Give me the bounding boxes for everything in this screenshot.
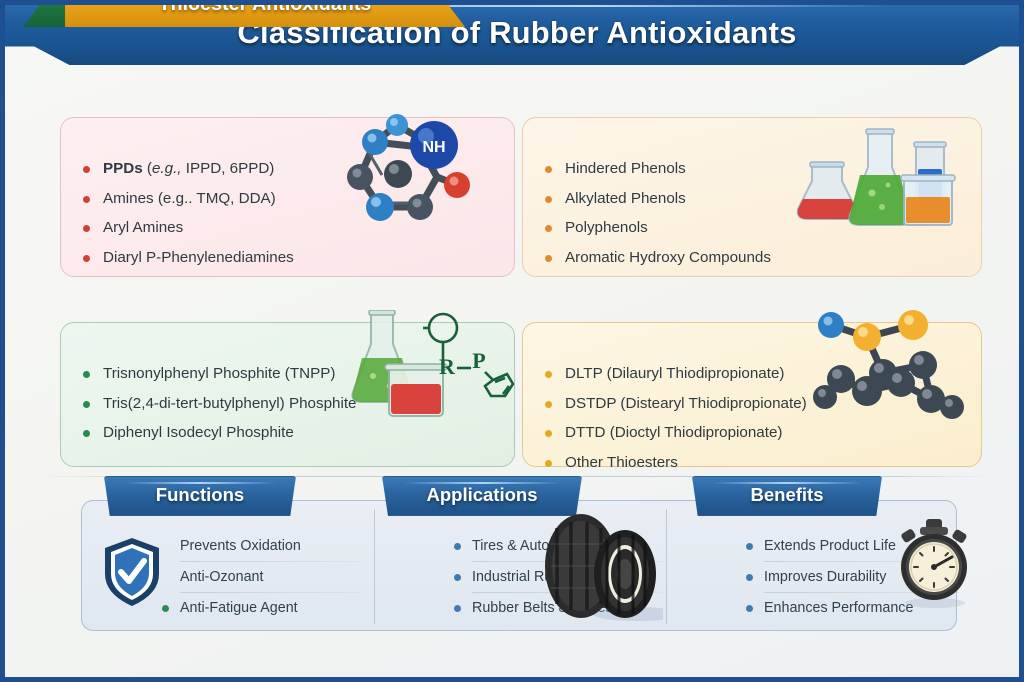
bullet-dot (746, 543, 753, 550)
list-item: Aryl Amines (83, 219, 294, 236)
thioester-item-list: DLTP (Dilauryl Thiodipropionate) DSTDP (… (545, 365, 807, 483)
applications-item-list: Tires & Automotive Industrial Rubber Goo… (452, 533, 662, 626)
panel-divider (374, 509, 375, 624)
bullet-dot (83, 255, 90, 262)
bullet-dot (545, 196, 552, 203)
bullet-dot (545, 255, 552, 262)
bullet-dot (83, 196, 90, 203)
bullet-dot (545, 430, 552, 437)
bullet-dot (545, 401, 552, 408)
banner-benefits: Benefits (692, 476, 882, 516)
column-benefits: Extends Product Life Improves Durability… (744, 533, 959, 626)
bullet-dot (83, 401, 90, 408)
list-item: Hindered Phenols (545, 160, 771, 177)
row-separator (180, 592, 360, 593)
ribbon-thioester: Thioester Antioxidants (65, 0, 465, 27)
bullet-dot (545, 225, 552, 232)
list-item: Tires & Automotive (452, 533, 662, 564)
list-item: Industrial Rubber Goods (452, 564, 662, 595)
banner-functions: Functions (104, 476, 296, 516)
bullet-dot (83, 371, 90, 378)
list-item: Rubber Belts & Hoses (452, 595, 662, 626)
category-card-amine: PPDs (e.g., IPPD, 6PPD) Amines (e.g.. TM… (60, 117, 515, 277)
infographic-canvas: Classification of Rubber Antioxidants PP… (0, 0, 1024, 682)
row-separator (764, 561, 959, 562)
list-item: DTTD (Dioctyl Thiodipropionate) (545, 424, 807, 441)
bullet-dot (545, 460, 552, 467)
list-item: Anti-Fatigue Agent (160, 595, 360, 626)
banner-label: Benefits (693, 484, 881, 506)
banner-applications: Applications (382, 476, 582, 516)
bullet-dot (83, 166, 90, 173)
list-item: Diaryl P-Phenylenediamines (83, 249, 294, 266)
banner-label: Functions (105, 484, 295, 506)
column-applications: Tires & Automotive Industrial Rubber Goo… (452, 533, 662, 626)
category-card-phenolic: Hindered Phenols Alkylated Phenols Polyp… (522, 117, 982, 277)
bullet-dot (83, 430, 90, 437)
list-item: Tris(2,4-di-tert-butylphenyl) Phosphite (83, 395, 357, 412)
bullet-dot (454, 574, 461, 581)
list-item: Alkylated Phenols (545, 190, 771, 207)
list-item: DLTP (Dilauryl Thiodipropionate) (545, 365, 807, 382)
amine-item-list: PPDs (e.g., IPPD, 6PPD) Amines (e.g.. TM… (83, 160, 294, 278)
bullet-dot (83, 225, 90, 232)
row-separator (472, 561, 662, 562)
ribbon-label: Thioester Antioxidants (65, 0, 465, 16)
bullet-dot (454, 605, 461, 612)
bullet-dot (545, 166, 552, 173)
list-item: Other Thioesters (545, 454, 807, 471)
list-item: Trisnonylphenyl Phosphite (TNPP) (83, 365, 357, 382)
category-card-phosphite: Trisnonylphenyl Phosphite (TNPP) Tris(2,… (60, 322, 515, 467)
phenolic-item-list: Hindered Phenols Alkylated Phenols Polyp… (545, 160, 771, 278)
list-item: PPDs (e.g., IPPD, 6PPD) (83, 160, 294, 177)
bullet-dot (454, 543, 461, 550)
phosphite-item-list: Trisnonylphenyl Phosphite (TNPP) Tris(2,… (83, 365, 357, 454)
column-functions: Prevents Oxidation Anti-Ozonant Anti-Fat… (160, 533, 360, 626)
banner-label: Applications (383, 484, 581, 506)
bullet-dot (162, 605, 169, 612)
functions-item-list: Prevents Oxidation Anti-Ozonant Anti-Fat… (160, 533, 360, 626)
list-item: Anti-Ozonant (160, 564, 360, 595)
row-separator (472, 592, 662, 593)
list-item: Extends Product Life (744, 533, 959, 564)
list-item: Diphenyl Isodecyl Phosphite (83, 424, 357, 441)
list-item: Amines (e.g.. TMQ, DDA) (83, 190, 294, 207)
bullet-dot (545, 371, 552, 378)
benefits-item-list: Extends Product Life Improves Durability… (744, 533, 959, 626)
bullet-dot (746, 574, 753, 581)
row-separator (180, 561, 360, 562)
list-item: DSTDP (Distearyl Thiodipropionate) (545, 395, 807, 412)
list-item: Prevents Oxidation (160, 533, 360, 564)
list-item: Polyphenols (545, 219, 771, 236)
list-item: Improves Durability (744, 564, 959, 595)
category-card-thioester: DLTP (Dilauryl Thiodipropionate) DSTDP (… (522, 322, 982, 467)
summary-panel: Functions Applications Benefits Prevents… (81, 500, 957, 631)
list-item: Enhances Performance (744, 595, 959, 626)
row-separator (764, 592, 959, 593)
bullet-dot (746, 605, 753, 612)
panel-divider (666, 509, 667, 624)
list-item: Aromatic Hydroxy Compounds (545, 249, 771, 266)
